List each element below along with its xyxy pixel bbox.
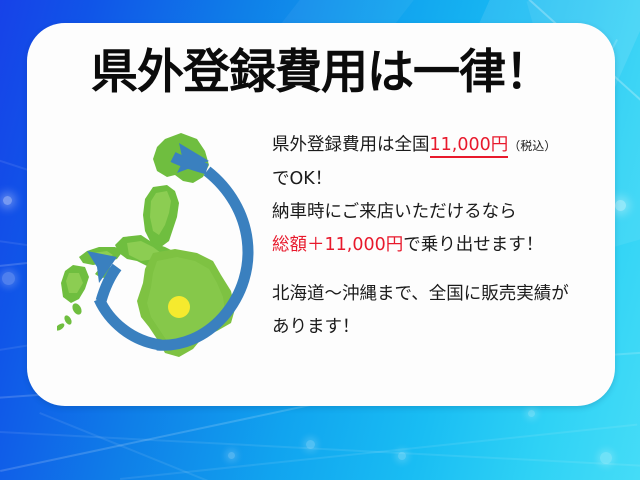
copy-line1-suffix: （税込） xyxy=(508,139,556,153)
copy-line-6: あります！ xyxy=(272,311,622,344)
page-title: 県外登録費用は一律！ xyxy=(27,49,615,96)
copy-line-5: 北海道～沖縄まで、全国に販売実績が xyxy=(272,278,622,311)
content-card: 県外登録費用は一律！ xyxy=(27,23,615,406)
copy-spacer xyxy=(272,262,622,278)
japan-map-illustration xyxy=(57,131,272,396)
copy-line1-amount: 11,000円 xyxy=(430,135,509,158)
copy-line4-red: 総額＋11,000円 xyxy=(272,235,403,255)
promo-copy: 県外登録費用は全国11,000円（税込） でOK！ 納車時にご来店いただけるなら… xyxy=(272,129,622,344)
banner-stage: 県外登録費用は一律！ xyxy=(0,0,640,480)
copy-line1-pre: 県外登録費用は全国 xyxy=(272,135,430,155)
brand-footer: トヨナガ トヨナガ xyxy=(0,406,640,480)
copy-line-3: 納車時にご来店いただけるなら xyxy=(272,196,622,229)
copy-line4-rest: で乗り出せます！ xyxy=(403,235,543,255)
copy-line-2: でOK！ xyxy=(272,163,622,196)
copy-line-1: 県外登録費用は全国11,000円（税込） xyxy=(272,129,622,163)
copy-line-4: 総額＋11,000円で乗り出せます！ xyxy=(272,229,622,262)
shop-location-marker xyxy=(168,296,190,318)
